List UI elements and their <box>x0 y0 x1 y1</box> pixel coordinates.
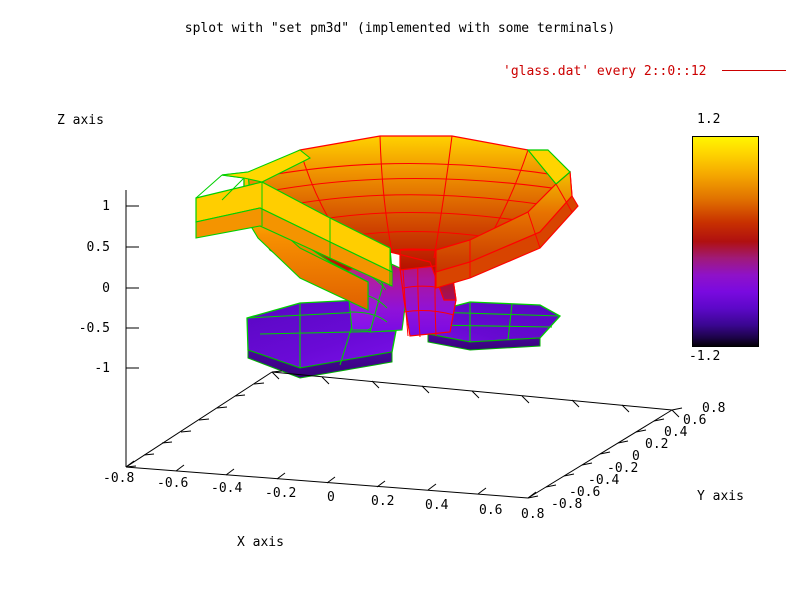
gnuplot-canvas: splot with "set pm3d" (implemented with … <box>0 0 800 600</box>
pm3d-surface-plot <box>0 0 800 600</box>
